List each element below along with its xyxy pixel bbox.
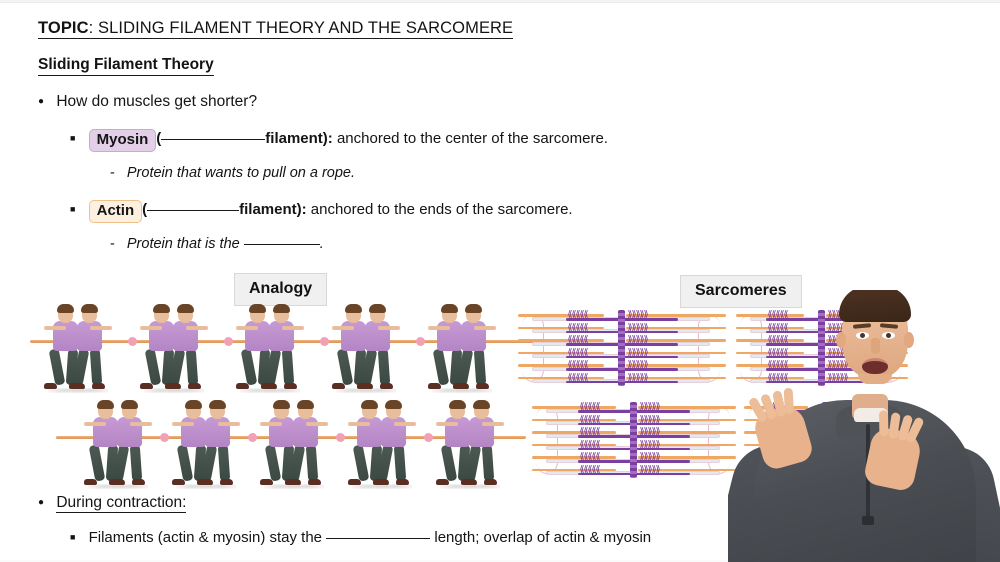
myosin-heads: ⟪⟪⟪⟪⟪	[568, 312, 588, 318]
person-legs	[116, 445, 143, 481]
myosin-heads: ⟫⟫⟫⟫⟫	[640, 442, 660, 448]
myosin-heads: ⟫⟫⟫⟫⟫	[640, 404, 660, 410]
myosin-heads: ⟫⟫⟫⟫⟫	[628, 325, 648, 331]
myosin-heads: ⟫⟫⟫⟫⟫	[640, 467, 660, 473]
myosin-heads: ⟫⟫⟫⟫⟫	[628, 337, 648, 343]
person-shoe	[188, 383, 201, 389]
person-shoe	[396, 479, 409, 485]
person-shoe	[132, 479, 145, 485]
actin-blank-line	[147, 210, 239, 211]
m-line	[618, 310, 625, 386]
person-shoe	[165, 383, 178, 389]
person-shoe	[172, 479, 185, 485]
presenter-mouth	[862, 358, 888, 374]
tug-pair	[238, 304, 324, 396]
person-arm	[436, 422, 458, 426]
presenter-chin	[858, 374, 892, 384]
rope-knot-icon	[160, 433, 169, 442]
person-shoe	[428, 383, 441, 389]
actin-filament	[532, 469, 616, 472]
rope-knot-icon	[416, 337, 425, 346]
person-shoe	[380, 383, 393, 389]
top-edge-bar	[0, 0, 1000, 3]
person-arm	[348, 422, 370, 426]
myosin-heads: ⟫⟫⟫⟫⟫	[640, 454, 660, 460]
person-arm	[84, 422, 106, 426]
tug-pair	[438, 400, 524, 492]
bullet-myosin: Myosin(filament): anchored to the center…	[70, 128, 608, 151]
person-shoe	[44, 383, 57, 389]
analogy-figure	[46, 304, 516, 494]
actin-bold-tail: filament):	[239, 201, 307, 218]
analogy-section-label: Analogy	[234, 273, 327, 306]
actin-filament	[518, 339, 604, 342]
person-shoe	[236, 383, 249, 389]
myosin-heads: ⟪⟪⟪⟪⟪	[580, 429, 600, 435]
presenter-nose	[871, 338, 880, 354]
person-shoe	[285, 479, 298, 485]
section-heading: Sliding Filament Theory	[38, 56, 214, 76]
person-arm	[282, 326, 304, 330]
person-hair	[273, 400, 290, 409]
person-shoe	[436, 479, 449, 485]
tug-pair	[142, 304, 228, 396]
actin-filament	[518, 327, 604, 330]
person-arm	[332, 326, 354, 330]
actin-filament	[532, 419, 616, 422]
person-arm	[394, 422, 416, 426]
presenter-video-overlay[interactable]	[728, 290, 1000, 562]
rope-knot-icon	[320, 337, 329, 346]
person-shoe	[69, 383, 82, 389]
person-hair	[57, 304, 74, 313]
person-shoe	[284, 383, 297, 389]
topic-separator: :	[89, 19, 98, 37]
myosin-heads: ⟪⟪⟪⟪⟪	[580, 454, 600, 460]
myosin-heads: ⟫⟫⟫⟫⟫	[628, 312, 648, 318]
presenter-hair	[839, 290, 911, 322]
person-shoe	[197, 479, 210, 485]
myosin-heads: ⟫⟫⟫⟫⟫	[628, 362, 648, 368]
myosin-blank-line	[161, 139, 265, 140]
person-shoe	[260, 479, 273, 485]
m-line	[630, 402, 637, 478]
person-shoe	[484, 479, 497, 485]
actin-subnote: Protein that is the .	[110, 236, 324, 252]
actin-subnote-post: .	[320, 236, 324, 252]
sarcomere-unit: ⟪⟪⟪⟪⟪⟫⟫⟫⟫⟫⟪⟪⟪⟪⟪⟫⟫⟫⟫⟫⟪⟪⟪⟪⟪⟫⟫⟫⟫⟫⟪⟪⟪⟪⟪⟫⟫⟫⟫⟫…	[542, 398, 724, 482]
person-arm	[218, 422, 240, 426]
person-hair	[449, 400, 466, 409]
bullet-filaments-length: Filaments (actin & myosin) stay the leng…	[70, 529, 651, 546]
person-arm	[378, 326, 400, 330]
person-hair	[273, 304, 290, 313]
z-disc	[522, 314, 544, 382]
person-shoe	[140, 383, 153, 389]
person-arm	[186, 326, 208, 330]
actin-filament	[518, 314, 604, 317]
actin-rest-text: anchored to the ends of the sarcomere.	[307, 201, 573, 218]
myosin-heads: ⟪⟪⟪⟪⟪	[580, 417, 600, 423]
person-hair	[361, 400, 378, 409]
person-shoe	[84, 479, 97, 485]
myosin-subnote-text: Protein that wants to pull on a rope.	[127, 165, 355, 181]
person-shoe	[357, 383, 370, 389]
person-shoe	[109, 479, 122, 485]
tug-pair	[174, 400, 260, 492]
myosin-heads: ⟪⟪⟪⟪⟪	[568, 362, 588, 368]
presenter-zipper-pull	[862, 516, 874, 525]
person-hair	[297, 400, 314, 409]
myosin-heads: ⟫⟫⟫⟫⟫	[628, 375, 648, 381]
person-legs	[204, 445, 231, 481]
person-hair	[153, 304, 170, 313]
tug-pair	[262, 400, 348, 492]
rope-knot-icon	[248, 433, 257, 442]
actin-filament	[518, 377, 604, 380]
tug-pair	[350, 400, 436, 492]
person-shoe	[261, 383, 274, 389]
person-arm	[172, 422, 194, 426]
myosin-rest-text: anchored to the center of the sarcomere.	[333, 130, 608, 147]
person-shoe	[92, 383, 105, 389]
myosin-heads: ⟪⟪⟪⟪⟪	[568, 325, 588, 331]
z-disc	[698, 314, 720, 382]
topic-text: SLIDING FILAMENT THEORY AND THE SARCOMER…	[98, 19, 513, 37]
actin-filament	[532, 406, 616, 409]
bullet-during-contraction: During contraction:	[38, 494, 186, 512]
person-hair	[249, 304, 266, 313]
person-shoe	[373, 479, 386, 485]
myosin-heads: ⟫⟫⟫⟫⟫	[640, 417, 660, 423]
bullet-question: How do muscles get shorter?	[38, 93, 257, 111]
tug-pair	[46, 304, 132, 396]
myosin-heads: ⟪⟪⟪⟪⟪	[580, 404, 600, 410]
actin-highlight-chip: Actin	[89, 200, 143, 223]
person-hair	[465, 304, 482, 313]
z-disc	[536, 406, 558, 474]
tug-pair	[430, 304, 516, 396]
sarcomere-unit: ⟪⟪⟪⟪⟪⟫⟫⟫⟫⟫⟪⟪⟪⟪⟪⟫⟫⟫⟫⟫⟪⟪⟪⟪⟪⟫⟫⟫⟫⟫⟪⟪⟪⟪⟪⟫⟫⟫⟫⟫…	[528, 306, 714, 390]
person-arm	[130, 422, 152, 426]
person-legs	[468, 445, 495, 481]
person-legs	[292, 445, 319, 481]
person-arm	[474, 326, 496, 330]
person-shoe	[332, 383, 345, 389]
person-arm	[236, 326, 258, 330]
person-shoe	[461, 479, 474, 485]
slide-canvas: TOPIC: SLIDING FILAMENT THEORY AND THE S…	[0, 0, 1000, 562]
actin-filament	[532, 431, 616, 434]
person-hair	[121, 400, 138, 409]
person-hair	[385, 400, 402, 409]
presenter-pupil-left	[860, 333, 865, 338]
myosin-heads: ⟫⟫⟫⟫⟫	[640, 429, 660, 435]
myosin-heads: ⟪⟪⟪⟪⟪	[568, 337, 588, 343]
person-arm	[428, 326, 450, 330]
presenter-ear-right	[904, 332, 914, 348]
myosin-heads: ⟪⟪⟪⟪⟪	[568, 350, 588, 356]
myosin-heads: ⟪⟪⟪⟪⟪	[580, 467, 600, 473]
tug-pair	[334, 304, 420, 396]
person-legs	[380, 445, 407, 481]
person-arm	[44, 326, 66, 330]
presenter-ear-left	[836, 332, 846, 348]
myosin-subnote: Protein that wants to pull on a rope.	[110, 165, 355, 181]
myosin-heads: ⟪⟪⟪⟪⟪	[568, 375, 588, 381]
person-hair	[177, 304, 194, 313]
person-legs	[460, 349, 487, 385]
person-hair	[345, 304, 362, 313]
person-shoe	[348, 479, 361, 485]
myosin-bold-tail: filament):	[265, 130, 333, 147]
person-arm	[482, 422, 504, 426]
actin-filament	[532, 444, 616, 447]
person-shoe	[476, 383, 489, 389]
person-legs	[172, 349, 199, 385]
person-shoe	[308, 479, 321, 485]
person-shoe	[220, 479, 233, 485]
actin-filament	[518, 352, 604, 355]
rope-knot-icon	[424, 433, 433, 442]
topic-label: TOPIC	[38, 19, 89, 37]
actin-filament	[518, 364, 604, 367]
person-arm	[260, 422, 282, 426]
rope-knot-icon	[128, 337, 137, 346]
tug-pair	[86, 400, 172, 492]
actin-subnote-pre: Protein that is the	[127, 236, 244, 252]
person-shoe	[453, 383, 466, 389]
z-disc	[708, 406, 730, 474]
person-hair	[185, 400, 202, 409]
person-hair	[81, 304, 98, 313]
during-contraction-header: During contraction:	[56, 494, 186, 513]
person-hair	[441, 304, 458, 313]
person-hair	[473, 400, 490, 409]
analogy-row-relaxed	[46, 304, 516, 396]
rope-knot-icon	[224, 337, 233, 346]
myosin-heads: ⟪⟪⟪⟪⟪	[580, 442, 600, 448]
person-hair	[369, 304, 386, 313]
person-arm	[140, 326, 162, 330]
bullet-actin: Actin(filament): anchored to the ends of…	[70, 199, 573, 222]
person-legs	[268, 349, 295, 385]
filaments-blank-line	[326, 538, 430, 539]
filaments-text-pre: Filaments (actin & myosin) stay the	[89, 529, 327, 546]
analogy-row-contracted	[46, 400, 516, 492]
actin-subnote-blank	[244, 244, 320, 245]
person-legs	[364, 349, 391, 385]
filaments-text-post: length; overlap of actin & myosin	[430, 529, 651, 546]
person-legs	[76, 349, 103, 385]
myosin-highlight-chip: Myosin	[89, 129, 157, 152]
page-title: TOPIC: SLIDING FILAMENT THEORY AND THE S…	[38, 19, 513, 38]
rope-knot-icon	[336, 433, 345, 442]
presenter-pupil-right	[886, 333, 891, 338]
person-hair	[209, 400, 226, 409]
person-arm	[90, 326, 112, 330]
myosin-heads: ⟫⟫⟫⟫⟫	[628, 350, 648, 356]
actin-filament	[532, 456, 616, 459]
bullet-question-text: How do muscles get shorter?	[56, 93, 257, 110]
person-hair	[97, 400, 114, 409]
person-arm	[306, 422, 328, 426]
